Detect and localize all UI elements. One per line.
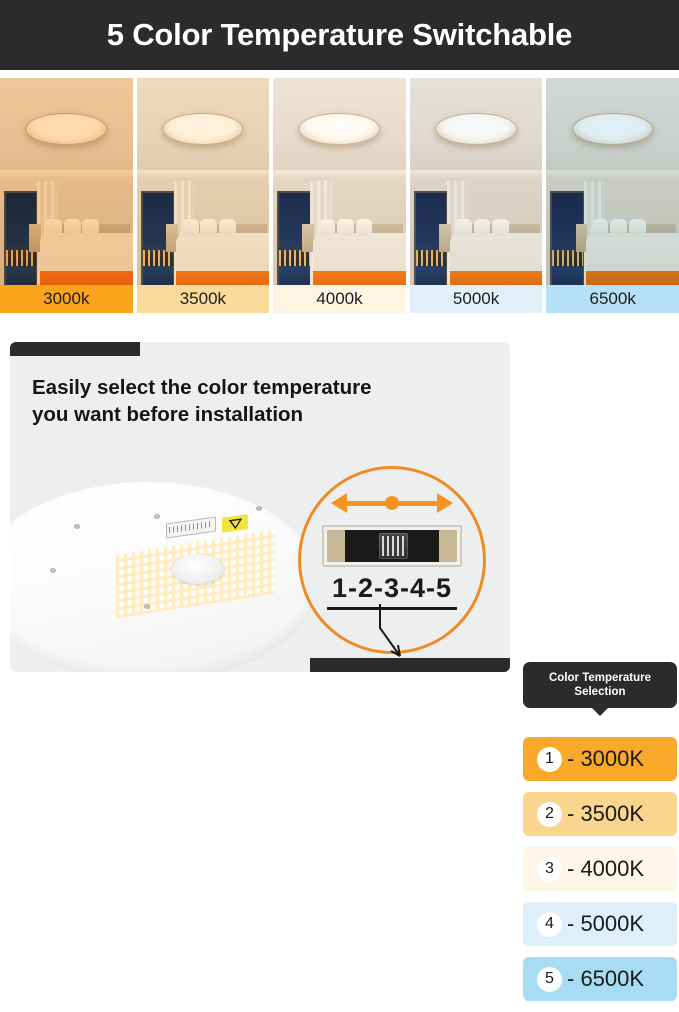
city-skyline xyxy=(416,250,446,266)
pillow xyxy=(45,219,62,237)
pillow xyxy=(319,219,336,237)
kelvin-value: 3500k xyxy=(180,289,226,309)
arrow-right-icon xyxy=(437,493,453,513)
accent-bar-top xyxy=(10,342,140,356)
pillow xyxy=(492,219,509,237)
legend-number-badge: 5 xyxy=(537,967,562,992)
bedroom-scene xyxy=(137,78,270,313)
instruction-text: Easily select the color temperature you … xyxy=(32,374,462,429)
legend-row[interactable]: 2 - 3500K xyxy=(523,792,677,836)
pillow xyxy=(592,219,609,237)
pillow xyxy=(182,219,199,237)
screw xyxy=(256,506,262,511)
kelvin-label: 3500k xyxy=(137,285,270,313)
kelvin-label: 3000k xyxy=(0,285,133,313)
ceiling-lamp-icon xyxy=(435,113,517,145)
pillow xyxy=(219,219,236,237)
legend-row-list: 1 - 3000K 2 - 3500K 3 - 4000K 4 - 5000K … xyxy=(523,737,677,1012)
pillow xyxy=(455,219,472,237)
ceiling-lamp-icon xyxy=(162,113,244,145)
instruction-card: Easily select the color temperature you … xyxy=(10,342,510,672)
legend-number-badge: 2 xyxy=(537,802,562,827)
lamp-diffuser xyxy=(442,119,510,138)
product-photo xyxy=(10,476,334,672)
lamp-diffuser xyxy=(305,119,373,138)
legend-number-badge: 4 xyxy=(537,912,562,937)
ceiling-lamp-icon xyxy=(572,113,654,145)
switch-scale-labels: 1-2-3-4-5 xyxy=(332,573,452,604)
screw xyxy=(154,514,160,519)
color-temperature-legend: Color Temperature Selection 1 - 3000K 2 … xyxy=(523,662,679,1001)
legend-header: Color Temperature Selection xyxy=(523,662,677,708)
kelvin-label: 5000k xyxy=(410,285,543,313)
dip-slide-switch-icon[interactable] xyxy=(322,525,462,567)
color-temperature-photo-strip: 3000k xyxy=(0,78,679,313)
kelvin-label: 4000k xyxy=(273,285,406,313)
bedroom-scene xyxy=(546,78,679,313)
slider-direction-indicator xyxy=(331,493,453,513)
led-driver-hub xyxy=(172,554,224,584)
legend-row-label: - 5000K xyxy=(567,911,644,937)
infographic-page: 5 Color Temperature Switchable xyxy=(0,0,679,679)
screw xyxy=(74,524,80,529)
switch-track xyxy=(327,530,457,562)
legend-row-label: - 3500K xyxy=(567,801,644,827)
pillow xyxy=(610,219,627,237)
page-title: 5 Color Temperature Switchable xyxy=(107,17,572,53)
kelvin-value: 6500k xyxy=(590,289,636,309)
legend-row[interactable]: 1 - 3000K xyxy=(523,737,677,781)
legend-row[interactable]: 3 - 4000K xyxy=(523,847,677,891)
ceiling-lamp-icon xyxy=(26,113,108,145)
legend-row-label: - 4000K xyxy=(567,856,644,882)
kelvin-value: 5000k xyxy=(453,289,499,309)
legend-title-line-1: Color Temperature xyxy=(549,671,651,685)
legend-row[interactable]: 5 - 6500K xyxy=(523,957,677,1001)
legend-row-label: - 3000K xyxy=(567,746,644,772)
kelvin-label: 6500k xyxy=(546,285,679,313)
legend-number-badge: 3 xyxy=(537,857,562,882)
city-skyline xyxy=(6,250,36,266)
temperature-panel: 4000k xyxy=(273,78,406,313)
switch-knob[interactable] xyxy=(379,533,408,559)
legend-row-label: - 6500K xyxy=(567,966,644,992)
pillow xyxy=(200,219,217,237)
temperature-panel: 6500k xyxy=(546,78,679,313)
pillow xyxy=(356,219,373,237)
pillow xyxy=(82,219,99,237)
city-skyline xyxy=(143,250,173,266)
temperature-panel: 3500k xyxy=(137,78,270,313)
legend-row[interactable]: 4 - 5000K xyxy=(523,902,677,946)
screw xyxy=(144,604,150,609)
temperature-panel: 5000k xyxy=(410,78,543,313)
bedroom-scene xyxy=(410,78,543,313)
lamp-diffuser xyxy=(169,119,237,138)
lower-section: Easily select the color temperature you … xyxy=(0,322,679,679)
arrow-center-dot-icon xyxy=(385,496,399,510)
arrow-pointer-icon xyxy=(288,604,408,672)
kelvin-value: 3000k xyxy=(43,289,89,309)
lamp-diffuser xyxy=(578,119,646,138)
instruction-line-1: Easily select the color temperature xyxy=(32,374,462,401)
legend-number-badge: 1 xyxy=(537,747,562,772)
city-skyline xyxy=(552,250,582,266)
bedroom-scene xyxy=(0,78,133,313)
pillow xyxy=(629,219,646,237)
legend-title-line-2: Selection xyxy=(574,685,625,699)
pillow xyxy=(474,219,491,237)
kelvin-value: 4000k xyxy=(316,289,362,309)
pillow xyxy=(64,219,81,237)
bedroom-scene xyxy=(273,78,406,313)
header-banner: 5 Color Temperature Switchable xyxy=(0,0,679,70)
ceiling-lamp-icon xyxy=(299,113,381,145)
temperature-panel: 3000k xyxy=(0,78,133,313)
city-skyline xyxy=(279,250,309,266)
lamp-diffuser xyxy=(32,119,100,138)
instruction-line-2: you want before installation xyxy=(32,401,462,428)
screw xyxy=(50,568,56,573)
pillow xyxy=(337,219,354,237)
